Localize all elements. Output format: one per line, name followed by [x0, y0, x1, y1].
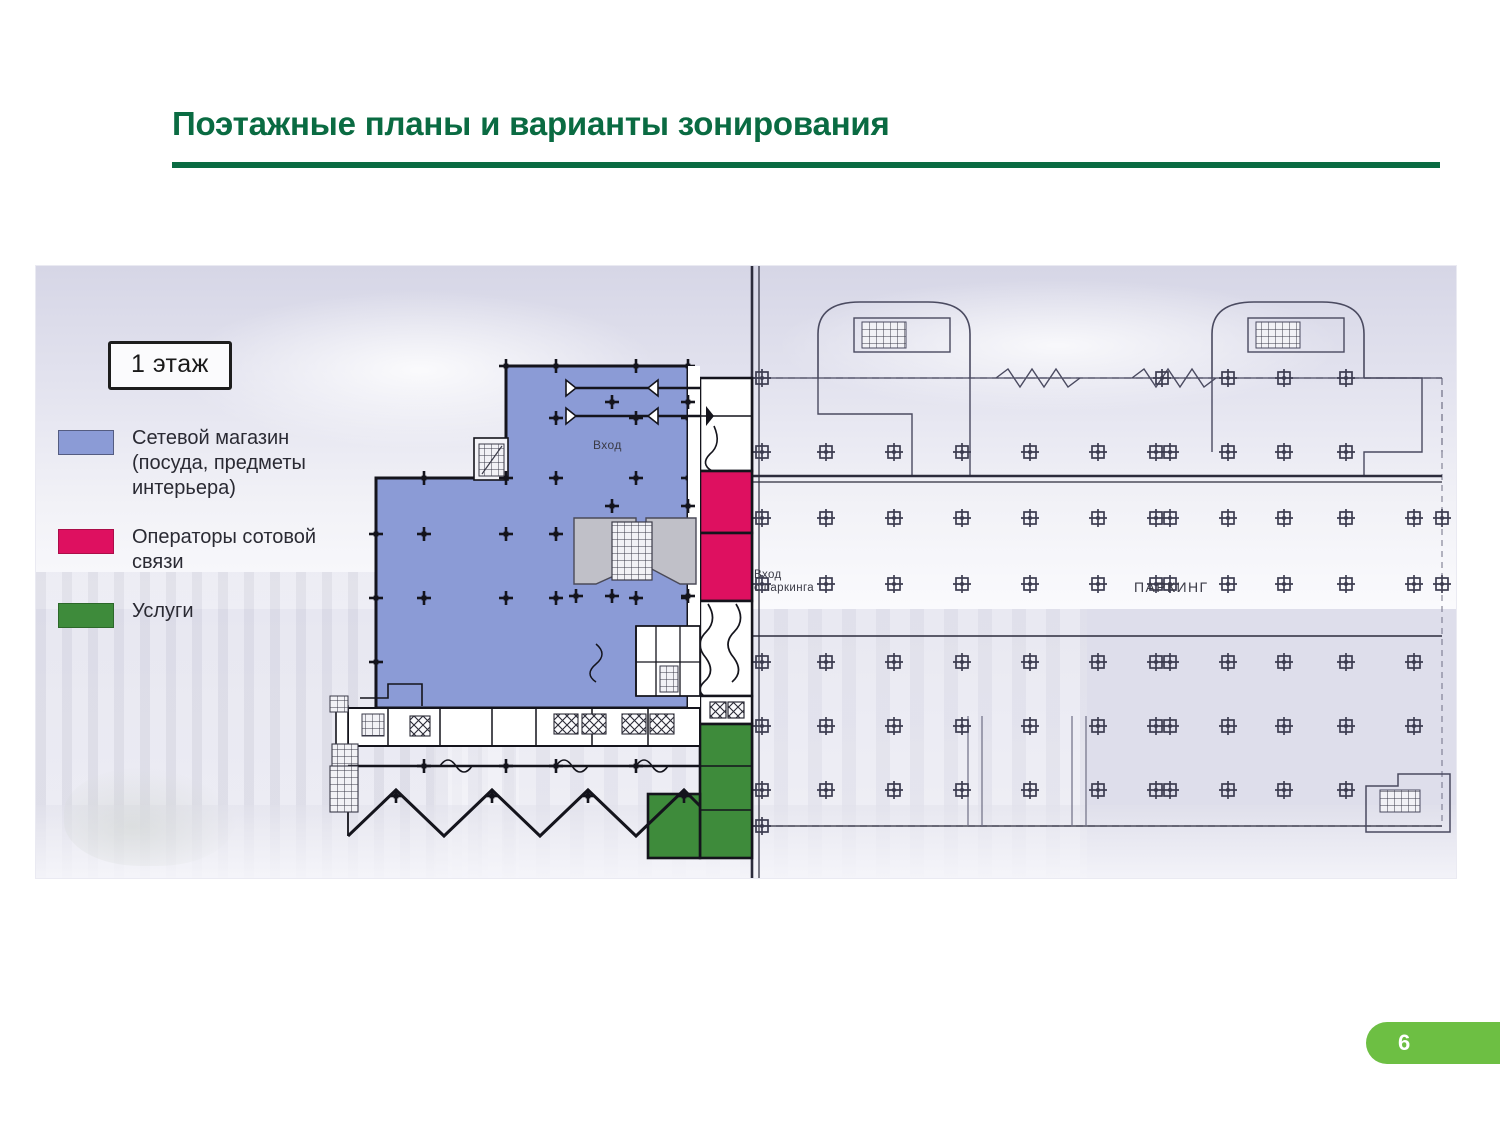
legend-swatch-network-store: [58, 430, 114, 455]
mobile-operator-zone-upper: [700, 471, 752, 533]
legend-swatch-mobile-operators: [58, 529, 114, 554]
parking-column-grid: [753, 369, 1451, 835]
escalator-pair: [574, 518, 696, 584]
legend-swatch-services: [58, 603, 114, 628]
legend-item-mobile-operators: Операторы сотовой связи: [58, 525, 358, 575]
services-zone-strip: [700, 724, 752, 858]
building-footprint: [330, 359, 752, 858]
plan-label-entrance-from-parking: Вход с паркинга: [754, 569, 814, 595]
page-number-badge: 6: [1366, 1022, 1500, 1064]
mobile-operator-zone-lower: [700, 533, 752, 601]
services-zone-annex: [648, 794, 700, 858]
entrance-from-parking-line-1: Вход: [754, 569, 814, 582]
legend-label-mobile-operators: Операторы сотовой связи: [132, 525, 358, 575]
legend-label-services: Услуги: [132, 599, 194, 624]
legend-item-network-store: Сетевой магазин (посуда, предметы интерь…: [58, 426, 358, 501]
parking-area: [736, 266, 1451, 878]
legend-label-network-store: Сетевой магазин (посуда, предметы интерь…: [132, 426, 358, 501]
floor-plan-figure: 1 этаж Сетевой магазин (посуда, предметы…: [36, 266, 1456, 878]
page-title: Поэтажные планы и варианты зонирования: [172, 105, 1452, 143]
entrance-from-parking-line-2: с паркинга: [754, 582, 814, 595]
plan-label-entrance: Вход: [593, 438, 622, 452]
plan-label-parking: ПАРКИНГ: [1134, 579, 1208, 595]
legend-item-services: Услуги: [58, 599, 358, 628]
title-underline-rule: [172, 162, 1440, 168]
floor-badge: 1 этаж: [108, 341, 232, 390]
zoning-legend: Сетевой магазин (посуда, предметы интерь…: [58, 426, 358, 652]
